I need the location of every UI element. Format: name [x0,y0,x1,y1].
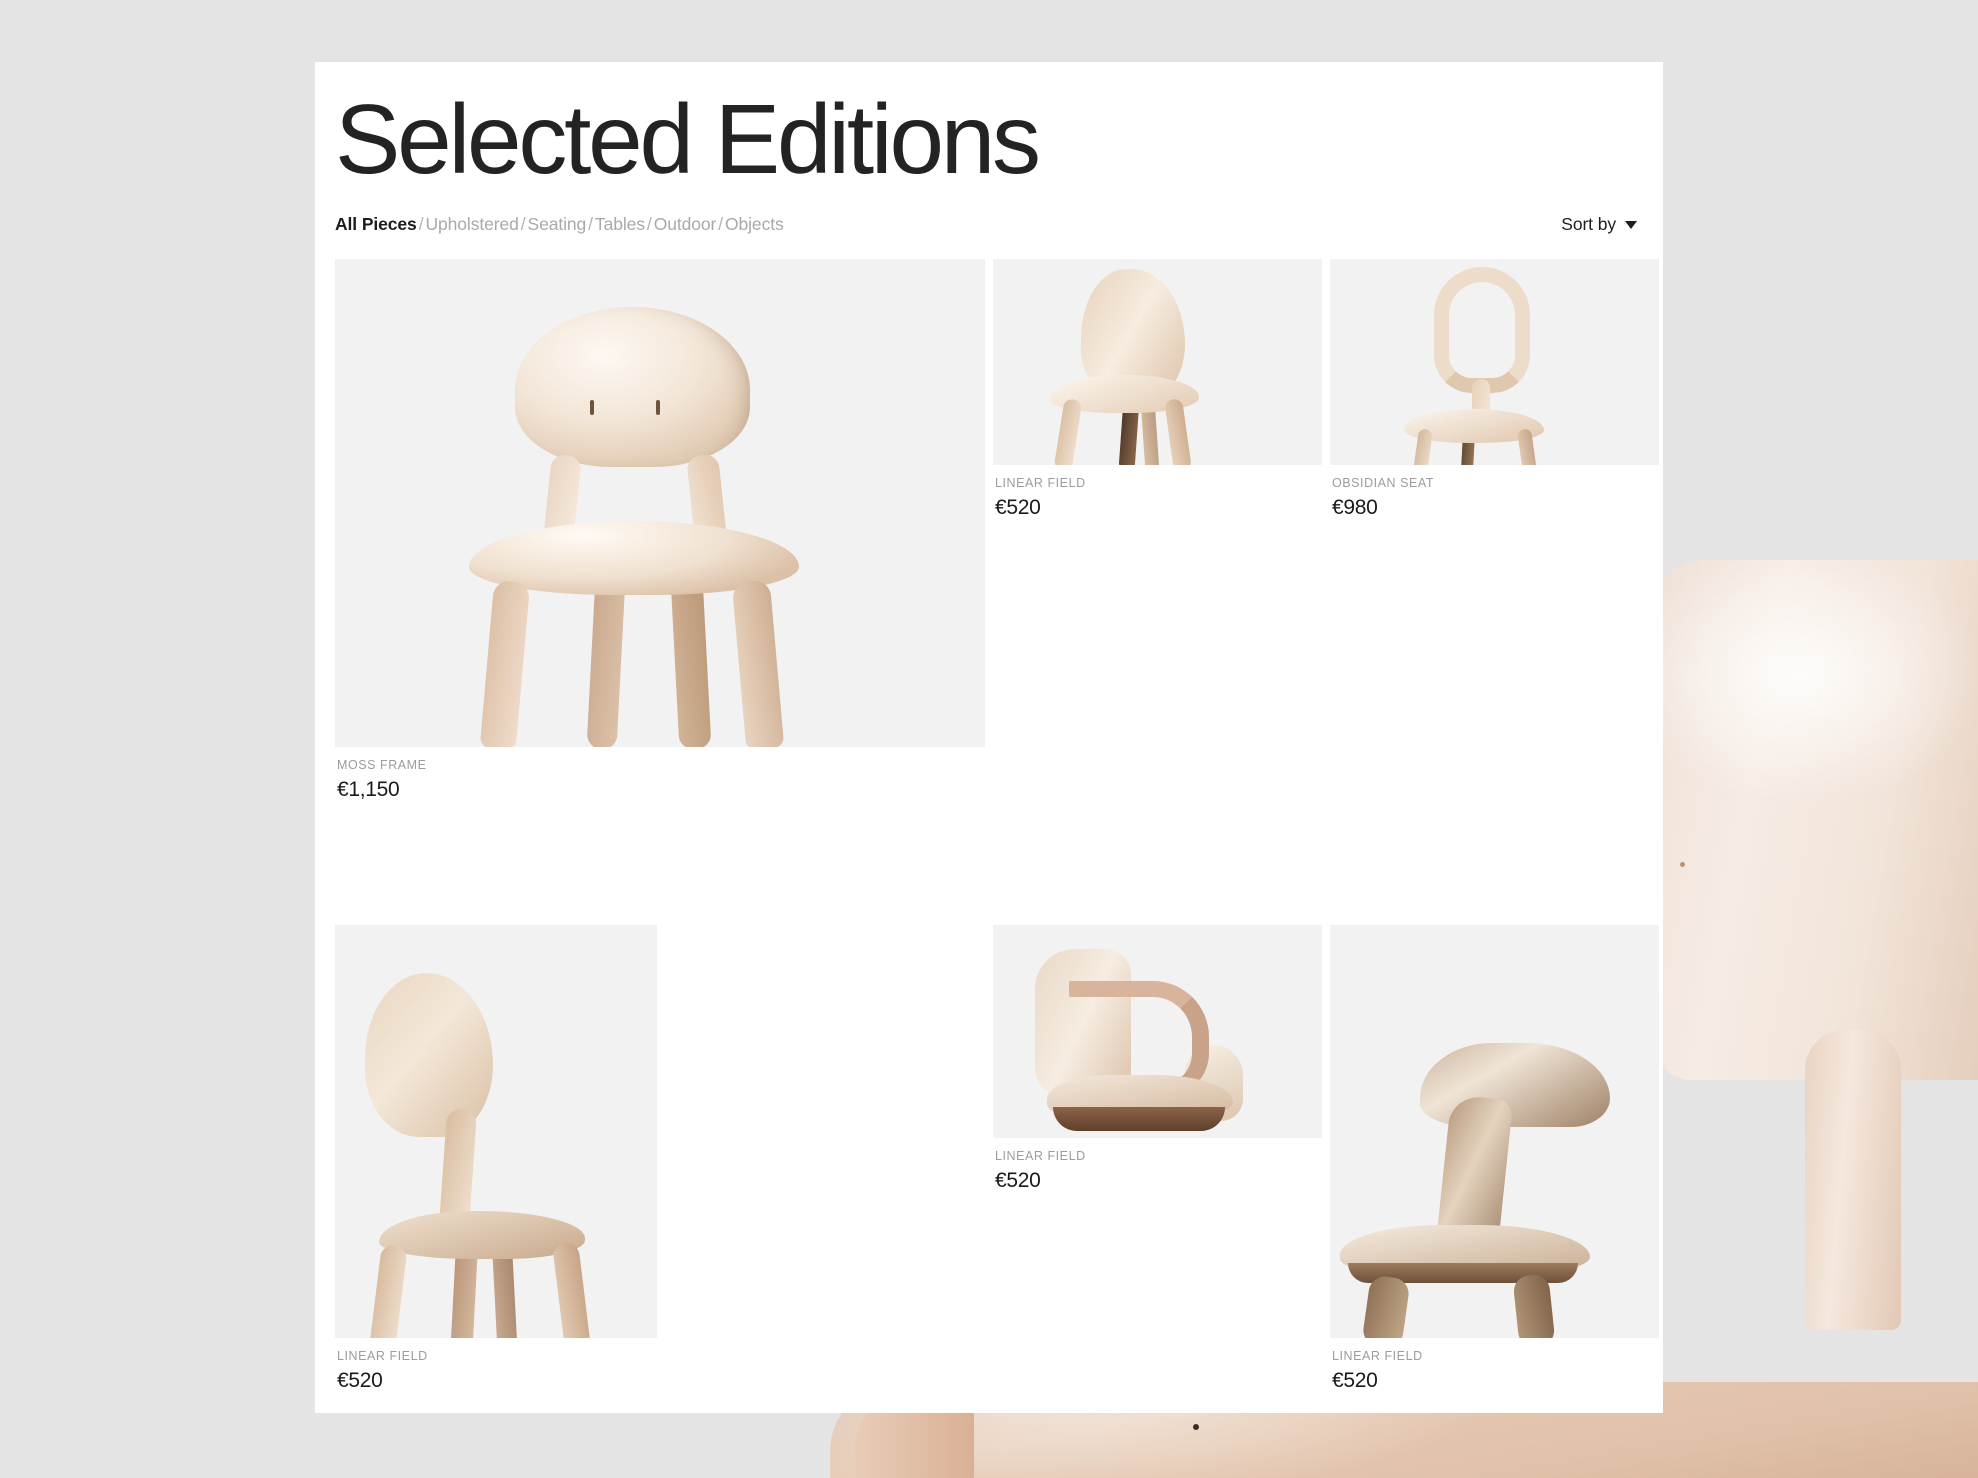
chair-base [1053,1107,1225,1131]
chair-leg-back-right [492,1249,518,1338]
filter-seating[interactable]: Seating [528,214,587,234]
chair-leg-back-left [587,576,626,747]
product-meta: LINEAR FIELD €520 [993,1138,1322,1193]
product-price: €980 [1332,496,1659,520]
background-chair-backrest [1655,560,1978,1080]
product-card[interactable]: LINEAR FIELD €520 [335,925,985,1393]
product-card[interactable]: LINEAR FIELD €520 [1330,925,1659,1393]
chair-leg-front-left [480,580,531,747]
product-meta: MOSS FRAME €1,150 [335,747,985,802]
product-name: OBSIDIAN SEAT [1332,476,1659,490]
background-chair-leg [1805,1030,1901,1330]
chair-leg-back [1512,1273,1555,1338]
product-price: €520 [995,1169,1322,1193]
filter-all-pieces[interactable]: All Pieces [335,214,417,234]
product-image-linear-field[interactable] [1330,925,1659,1338]
chair-leg-front-left [1053,398,1082,465]
filter-separator: / [519,214,528,234]
filter-tables[interactable]: Tables [595,214,645,234]
product-image-linear-field[interactable] [335,925,657,1338]
product-meta: LINEAR FIELD €520 [993,465,1322,520]
toolbar: All Pieces/Upholstered/Seating/Tables/Ou… [335,214,1645,235]
filter-upholstered[interactable]: Upholstered [425,214,518,234]
filter-nav: All Pieces/Upholstered/Seating/Tables/Ou… [335,214,784,235]
product-grid-row-2: LINEAR FIELD €520 LINEAR FIELD €520 [335,925,1645,1393]
product-image-linear-field[interactable] [993,259,1322,465]
chair-backrest [515,307,750,467]
product-meta: LINEAR FIELD €520 [1330,1338,1659,1393]
product-name: LINEAR FIELD [995,1149,1322,1163]
sort-by-label: Sort by [1561,214,1616,235]
product-name: LINEAR FIELD [995,476,1322,490]
chair-loop-backrest [1434,267,1530,393]
product-name: LINEAR FIELD [1332,1349,1659,1363]
sort-by-dropdown[interactable]: Sort by [1561,214,1637,235]
chair-leg-back-right [671,576,712,747]
chevron-down-icon [1625,221,1637,229]
chair-leg-front-left [368,1244,407,1338]
product-price: €1,150 [337,778,985,802]
chair-leg-front-right [732,580,784,747]
chair-leg-back-left [450,1246,478,1338]
filter-objects[interactable]: Objects [725,214,784,234]
filter-separator: / [645,214,654,234]
product-image-moss-frame[interactable] [335,259,985,747]
product-grid-row-1: MOSS FRAME €1,150 LINEAR FIELD €520 [335,259,1645,802]
product-meta: OBSIDIAN SEAT €980 [1330,465,1659,520]
chair-leg-front-right [1164,398,1192,465]
chair-backrest [365,973,493,1137]
product-card[interactable]: OBSIDIAN SEAT €980 [1330,259,1659,802]
product-meta: LINEAR FIELD €520 [335,1338,985,1393]
product-card[interactable]: LINEAR FIELD €520 [993,925,1322,1393]
chair-backrest [1420,1043,1610,1127]
product-price: €520 [337,1369,985,1393]
product-name: LINEAR FIELD [337,1349,985,1363]
product-card[interactable]: LINEAR FIELD €520 [993,259,1322,802]
product-card[interactable]: MOSS FRAME €1,150 [335,259,985,802]
filter-outdoor[interactable]: Outdoor [654,214,717,234]
filter-separator: / [586,214,595,234]
product-name: MOSS FRAME [337,758,985,772]
page-title: Selected Editions [335,90,1645,188]
product-image-linear-field[interactable] [993,925,1322,1138]
product-price: €520 [995,496,1322,520]
product-price: €520 [1332,1369,1659,1393]
filter-separator: / [716,214,725,234]
chair-leg-front [1361,1275,1410,1338]
content-panel: Selected Editions All Pieces/Upholstered… [315,62,1663,1413]
product-image-obsidian-seat[interactable] [1330,259,1659,465]
chair-leg-front-right [552,1242,592,1338]
